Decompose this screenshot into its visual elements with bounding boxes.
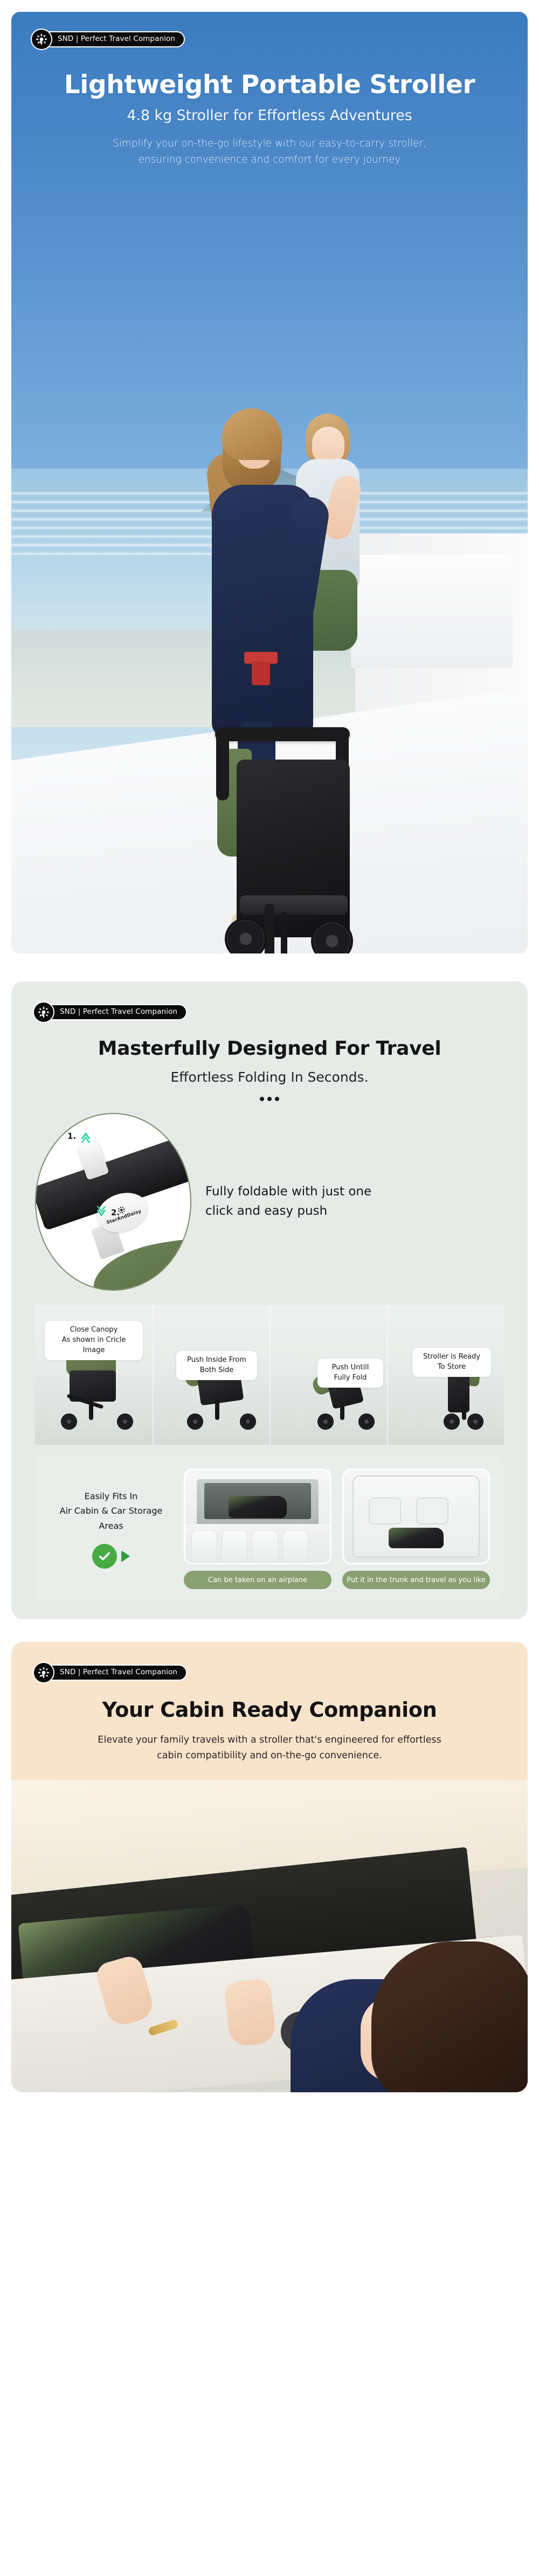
starflower-logo-icon [31,29,52,50]
storage-title: Easily Fits In Air Cabin & Car Storage A… [49,1489,173,1533]
car-trunk-illustration [342,1468,490,1564]
section3-description-line-2: cabin compatibility and on-the-go conven… [157,1750,382,1761]
step-label-4-line-1: Stroller is Ready [423,1353,480,1361]
circle-step-1-number: 1. [67,1131,76,1141]
step-label-2: Push Inside From Both Side [176,1351,257,1380]
play-triangle-icon [121,1550,130,1562]
cabin-ready-section: SND | Perfect Travel Companion Your Cabi… [11,1642,528,2092]
step-label-3-line-1: Push Untill [332,1363,369,1371]
attendant-hand-right [224,1978,277,2047]
section3-heading: Your Cabin Ready Companion [11,1698,528,1722]
section3-description: Elevate your family travels with a strol… [65,1732,474,1764]
step-label-1: Close Canopy As shown in Cricle Image [45,1321,143,1360]
brand-badge-label: SND | Perfect Travel Companion [60,1669,177,1676]
circle-step-2-number: 2. [111,1208,120,1217]
step-label-4: Stroller is Ready To Store [412,1348,491,1377]
step-label-1-line-1: Close Canopy [70,1326,118,1334]
brand-badge-label: SND | Perfect Travel Companion [60,1008,177,1016]
airplane-seat-row [185,1524,330,1563]
stroller-handle [215,727,350,741]
brand-badge-hero: SND | Perfect Travel Companion [31,30,185,48]
hero-photo-figures [11,350,528,953]
hero-description-line-2: ensuring convenience and comfort for eve… [139,154,401,165]
stroller-frame [281,911,287,953]
hero-subtitle: 4.8 kg Stroller for Effortless Adventure… [44,107,495,124]
step-label-3-line-2: Fully Fold [334,1374,367,1382]
airplane-caption-pill: Can be taken on an airplane [184,1571,331,1589]
starflower-logo-icon [33,1662,54,1683]
brand-badge-pill: SND | Perfect Travel Companion [40,31,185,47]
hero-copy: Lightweight Portable Stroller 4.8 kg Str… [11,71,528,168]
check-circle-icon [92,1544,117,1569]
arrow-up-icon [78,1128,94,1144]
step-label-2-line-2: Both Side [200,1366,233,1374]
car-outline [353,1475,480,1557]
stroller-strap [265,904,274,953]
storage-title-line-2: Air Cabin & Car Storage Areas [60,1506,163,1530]
starflower-logo-icon [33,1001,54,1023]
brand-badge-pill: SND | Perfect Travel Companion [43,1665,187,1681]
storage-panel: Easily Fits In Air Cabin & Car Storage A… [35,1456,504,1601]
step-label-4-line-2: To Store [438,1363,466,1371]
brand-badge-pill: SND | Perfect Travel Companion [43,1004,187,1020]
mother-belt-buckle [252,662,270,685]
fold-mechanism-circle-image: StarAndDaisy 1. [35,1113,191,1291]
step-label-3: Push Untill Fully Fold [317,1359,383,1388]
stroller-footrest [240,895,348,915]
mother-hair-front [222,408,282,460]
airplane-cabin-illustration [184,1468,331,1564]
section2-subheading: Effortless Folding In Seconds. [11,1069,528,1085]
fold-detail-row: StarAndDaisy 1. [11,1101,528,1291]
arrow-down-icon [93,1205,109,1221]
storage-panel-text: Easily Fits In Air Cabin & Car Storage A… [49,1489,173,1569]
step-label-1-line-2: As shown in Cricle Image [62,1336,126,1354]
hero-description-line-1: Simplify your on-the-go lifestyle with o… [113,138,426,149]
trunk-caption-pill: Put it in the trunk and travel as you li… [342,1571,490,1589]
step-label-2-line-1: Push Inside From [187,1356,246,1364]
hero-title: Lightweight Portable Stroller [44,71,495,100]
circle-step-2-marker: 2. [93,1205,120,1221]
cabin-photo [11,1780,528,2092]
product-landing-page: SND | Perfect Travel Companion Lightweig… [0,12,539,2092]
stroller-step-figure-1 [57,1350,148,1431]
three-dots-divider [11,1097,528,1101]
fold-caption: Fully foldable with just one click and e… [205,1182,371,1221]
section3-description-line-1: Elevate your family travels with a strol… [98,1735,441,1745]
section2-heading: Masterfully Designed For Travel [11,1038,528,1060]
storage-airplane-column: Can be taken on an airplane [184,1468,331,1589]
brand-badge-section3: SND | Perfect Travel Companion [33,1663,187,1682]
brand-badge-section2: SND | Perfect Travel Companion [33,1003,187,1021]
storage-title-line-1: Easily Fits In [85,1491,138,1501]
folded-stroller-in-trunk [389,1528,444,1548]
overhead-bin [197,1479,318,1527]
brand-badge-label: SND | Perfect Travel Companion [58,36,175,43]
folding-steps-strip: Close Canopy As shown in Cricle Image Pu… [35,1305,504,1445]
fold-caption-line-2: click and easy push [205,1204,327,1218]
storage-check-group [49,1544,173,1569]
folded-stroller-in-bin [229,1496,287,1518]
fold-caption-line-1: Fully foldable with just one [205,1185,371,1199]
design-section: SND | Perfect Travel Companion Masterful… [11,981,528,1619]
hero-description: Simplify your on-the-go lifestyle with o… [44,136,495,168]
storage-car-column: Put it in the trunk and travel as you li… [342,1468,490,1589]
circle-step-1-marker: 1. [67,1128,94,1144]
hero-section: SND | Perfect Travel Companion Lightweig… [11,12,528,953]
